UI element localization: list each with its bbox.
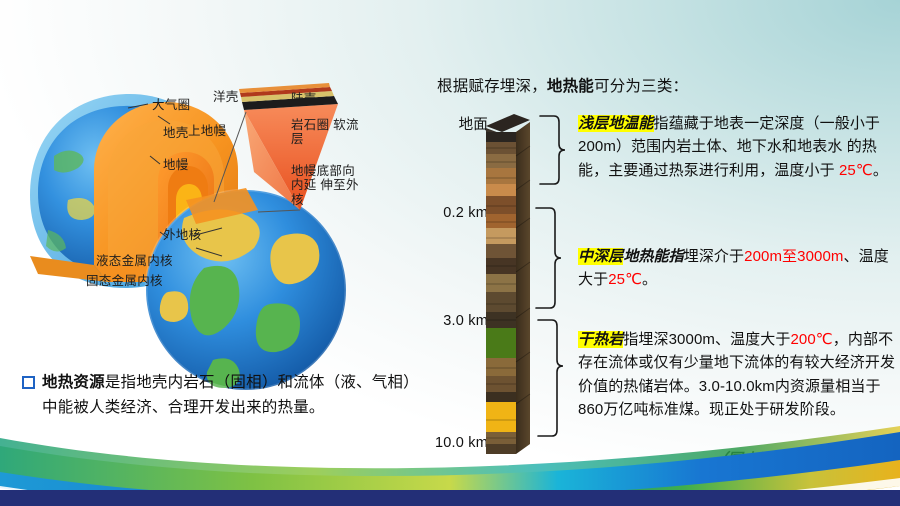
p3-temperature: 200℃ — [790, 331, 832, 348]
term-shallow-geothermal: 浅层地温能 — [578, 115, 654, 132]
paragraph-mid-deep-geothermal: 中深层地热能指埋深介于200m至3000m、温度大于25℃。 — [578, 245, 896, 292]
label-outer-core: 外地核 — [163, 228, 201, 243]
term-hot-dry-rock: 干热岩 — [578, 331, 623, 348]
p3-seg1: 指埋深3000m、温度大于 — [623, 331, 790, 348]
bottom-decorative-bands — [0, 416, 900, 506]
p2-bold-italic: 地热能指 — [623, 248, 683, 265]
depth-label-surface: 地面 — [414, 113, 488, 134]
earth-cutaway-illustration: 大气圈 地壳 地幔 外地核 液态金属内核 固态金属内核 洋壳 上地幔 陆壳 岩石… — [8, 60, 408, 400]
label-oceanic-crust: 洋壳 — [213, 90, 239, 105]
label-upper-mantle: 上地幔 — [188, 124, 226, 139]
brace-mid-deep — [536, 208, 561, 308]
headline-bold: 地热能 — [547, 78, 594, 95]
paragraph-hot-dry-rock: 干热岩指埋深3000m、温度大于200℃，内部不存在流体或仅有少量地下流体的有较… — [578, 328, 896, 422]
label-lithosphere-asthenosphere: 岩石圈 软流层 — [291, 118, 363, 147]
term-mid-deep: 中深层 — [578, 248, 623, 265]
slide-canvas: 大气圈 地壳 地幔 外地核 液态金属内核 固态金属内核 洋壳 上地幔 陆壳 岩石… — [0, 0, 900, 506]
headline-suffix: 可分为三类： — [594, 78, 688, 95]
page-title: 根据赋存埋深，地热能可分为三类： — [437, 74, 688, 96]
earth-globe — [146, 188, 346, 390]
label-crust: 地壳 — [163, 126, 189, 141]
rock-core-column — [484, 112, 532, 454]
depth-label-0-2km: 0.2 km — [414, 205, 488, 221]
bullet-lead: 地热资源 — [42, 374, 105, 391]
p2-seg1: 埋深介于 — [684, 248, 744, 265]
bullet-text: 地热资源是指地壳内岩石（固相）和流体（液、气相）中能被人类经济、合理开发出来的热… — [42, 370, 412, 420]
depth-label-3-0km: 3.0 km — [414, 313, 488, 329]
label-liquid-metal-inner-core: 液态金属内核 — [96, 254, 173, 269]
paragraph-shallow-geothermal: 浅层地温能指蕴藏于地表一定深度（一般小于200m）范围内岩土体、地下水和地表水 … — [578, 112, 896, 182]
p2-temperature: 25℃ — [608, 271, 642, 288]
core-strata — [486, 132, 516, 454]
p1-tail: 。 — [873, 162, 888, 179]
label-mantle: 地幔 — [163, 158, 189, 173]
p2-depth-range: 200m至3000m — [744, 248, 843, 265]
geothermal-resource-bullet: 地热资源是指地壳内岩石（固相）和流体（液、气相）中能被人类经济、合理开发出来的热… — [22, 370, 412, 420]
label-solid-metal-inner-core: 固态金属内核 — [86, 274, 163, 289]
label-continental-crust: 陆壳 — [291, 92, 317, 107]
label-atmosphere: 大气圈 — [152, 98, 190, 113]
headline-prefix: 根据赋存埋深， — [437, 78, 547, 95]
p2-seg3: 。 — [642, 271, 657, 288]
p1-temperature: 25℃ — [839, 162, 873, 179]
depth-range-braces — [530, 108, 576, 460]
brace-shallow — [540, 116, 565, 184]
label-mantle-base-extension: 地幔底部向内延 伸至外核 — [291, 164, 363, 207]
square-bullet-icon — [22, 376, 35, 389]
